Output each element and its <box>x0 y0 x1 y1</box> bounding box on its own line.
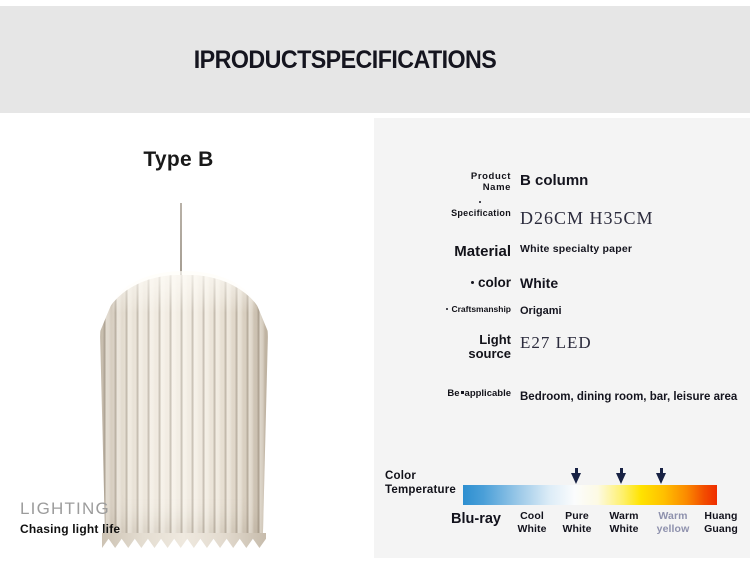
spec-row-craftsmanship: Craftsmanship Origami <box>374 305 750 318</box>
spec-label-light-source: Light source <box>374 333 520 362</box>
brand-tagline: Chasing light life <box>20 522 280 536</box>
ct-tick-warm-yellow: Warm yellow <box>646 510 700 536</box>
spec-value-material: White specialty paper <box>520 243 750 256</box>
ct-tick-warm-white-line1: Warm <box>609 510 638 522</box>
lamp-shade-highlight <box>112 271 256 313</box>
ct-tick-cool-white-line2: White <box>517 523 546 535</box>
spec-label-applicable-a: Be <box>447 388 459 399</box>
ct-tick-warm-white-line2: White <box>609 523 638 535</box>
ct-tick-warm-yellow-line2: yellow <box>657 523 690 535</box>
spec-label-material: Material <box>374 243 520 260</box>
spec-label-light-source-line1: Light <box>479 332 511 347</box>
color-temperature-label-line2: Temperature <box>385 484 456 496</box>
spec-row-light-source: Light source E27 LED <box>374 333 750 362</box>
color-temperature-gradient-bar <box>463 485 717 505</box>
spec-label-specification-text: Specification <box>451 208 511 218</box>
spec-row-material: Material White specialty paper <box>374 243 750 260</box>
ct-marker-3 <box>656 468 667 484</box>
ct-tick-warm-white: Warm White <box>598 510 650 536</box>
spec-value-light-source: E27 LED <box>520 333 750 353</box>
triangle-down-icon <box>656 473 666 484</box>
page-title: IPRODUCTSPECIFICATIONS <box>24 46 666 75</box>
spec-row-color: color White <box>374 275 750 292</box>
color-temperature-label-line1: Color <box>385 470 416 482</box>
ct-tick-pure-white-line2: White <box>562 523 591 535</box>
color-temperature-scale: Color Temperature Blu-ray Cool <box>374 466 750 546</box>
bullet-dot-icon <box>471 281 474 284</box>
spec-label-applicable: Beapplicable <box>374 389 520 400</box>
spec-value-color: White <box>520 275 750 292</box>
ct-marker-2 <box>616 468 627 484</box>
spec-label-product-name-line1: Product <box>471 171 511 182</box>
lamp-cord <box>180 203 182 277</box>
triangle-down-icon <box>616 473 626 484</box>
spec-label-craftsmanship: Craftsmanship <box>374 305 520 315</box>
spec-value-specification: D26CM H35CM <box>520 208 750 230</box>
ct-tick-huang-guang-line1: Huang <box>704 510 737 522</box>
ct-tick-pure-white: Pure White <box>552 510 602 536</box>
spec-label-color-text: color <box>478 275 511 290</box>
spec-value-product-name: B column <box>520 172 750 190</box>
lamp-shade-pleats <box>100 275 268 533</box>
bullet-dot-icon <box>479 201 481 203</box>
spec-label-specification: Specification <box>374 208 520 218</box>
spec-row-applicable: Beapplicable Bedroom, dining room, bar, … <box>374 389 750 406</box>
product-image-panel: Type B LIGHTING Chasing light life <box>6 118 361 558</box>
ct-tick-huang-guang-line2: Guang <box>704 523 738 535</box>
ct-tick-huang-guang: Huang Guang <box>694 510 748 536</box>
ct-tick-blu-ray-line1: Blu-ray <box>451 511 501 527</box>
ct-tick-cool-white: Cool White <box>507 510 557 536</box>
ct-tick-pure-white-line1: Pure <box>565 510 589 522</box>
spec-label-color: color <box>374 275 520 291</box>
spec-row-product-name: Product Name B column <box>374 172 750 194</box>
spec-value-craftsmanship: Origami <box>520 305 750 318</box>
spec-label-product-name-line2: Name <box>483 182 511 193</box>
square-dot-icon <box>461 391 464 394</box>
color-temperature-tick-labels: Blu-ray Cool White Pure White Warm White… <box>374 510 750 544</box>
product-type-label: Type B <box>6 148 351 172</box>
triangle-down-icon <box>571 473 581 484</box>
ct-tick-cool-white-line1: Cool <box>520 510 544 522</box>
ct-marker-1 <box>571 468 582 484</box>
bullet-dot-icon <box>446 308 448 310</box>
header-band: IPRODUCTSPECIFICATIONS <box>0 6 750 113</box>
brand-name: LIGHTING <box>20 500 280 519</box>
spec-label-product-name: Product Name <box>374 172 520 194</box>
spec-label-applicable-b: applicable <box>465 388 511 399</box>
ct-tick-blu-ray: Blu-ray <box>434 510 518 528</box>
color-temperature-markers <box>463 468 717 486</box>
spec-value-applicable: Bedroom, dining room, bar, leisure area <box>520 389 750 406</box>
ct-tick-warm-yellow-line1: Warm <box>658 510 687 522</box>
spec-label-craftsmanship-text: Craftsmanship <box>451 304 511 314</box>
specifications-panel: Product Name B column Specification D26C… <box>374 118 750 558</box>
spec-label-light-source-line2: source <box>468 346 511 361</box>
brand-block: LIGHTING Chasing light life <box>20 500 280 536</box>
color-temperature-label: Color Temperature <box>385 469 456 498</box>
specifications-list: Product Name B column Specification D26C… <box>374 172 750 420</box>
spec-row-specification: Specification D26CM H35CM <box>374 208 750 230</box>
